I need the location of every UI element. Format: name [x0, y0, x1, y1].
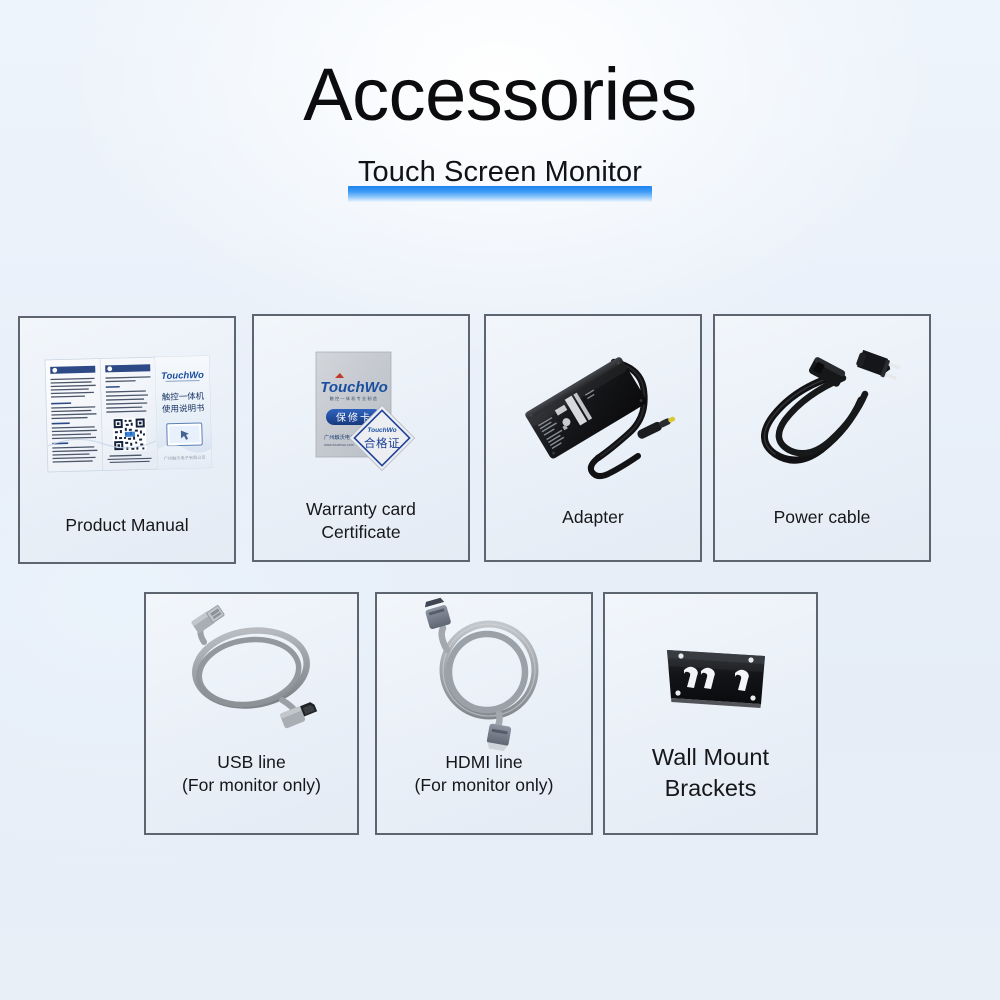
card-label-sub: Certificate	[258, 521, 464, 544]
card-label-sub: (For monitor only)	[150, 774, 353, 797]
card-label: Product Manual	[24, 514, 230, 537]
page-title: Accessories	[0, 0, 1000, 132]
card-label: Wall Mount Brackets	[609, 742, 812, 803]
accessory-card-product-manual[interactable]: TouchWo 触控一体机 使用说明书 广州触沃电子有限公司	[18, 316, 236, 564]
accessory-card-warranty-certificate[interactable]: TouchWo 触控一体机专业制造 保修卡 广州触沃电子有限 www.touch…	[252, 314, 470, 562]
accessory-card-wall-mount-brackets[interactable]: Wall Mount Brackets	[603, 592, 818, 835]
warranty-card-icon: TouchWo 触控一体机专业制造 保修卡 广州触沃电子有限 www.touch…	[254, 316, 470, 506]
svg-text:触控一体机: 触控一体机	[162, 391, 205, 403]
accessory-card-power-cable[interactable]: Power cable	[713, 314, 931, 562]
card-label: Power cable	[719, 506, 925, 529]
card-label-main: Adapter	[562, 507, 624, 527]
card-label: Adapter	[490, 506, 696, 529]
svg-text:使用说明书: 使用说明书	[162, 403, 205, 415]
page-subtitle: Touch Screen Monitor	[354, 156, 646, 189]
wall-bracket-icon	[605, 594, 818, 744]
svg-text:触控一体机专业制造: 触控一体机专业制造	[330, 395, 379, 401]
accessory-card-hdmi-line[interactable]: HDMI line (For monitor only)	[375, 592, 593, 835]
accessory-card-adapter[interactable]: Adapter	[484, 314, 702, 562]
card-label-main: Warranty card	[306, 499, 416, 519]
card-label-sub: Brackets	[609, 773, 812, 804]
power-cord-icon	[715, 316, 931, 506]
usb-cable-icon	[146, 594, 359, 754]
power-adapter-icon	[486, 316, 702, 506]
card-label-sub: (For monitor only)	[381, 774, 587, 797]
card-label-main: Product Manual	[65, 515, 188, 535]
card-label: Warranty card Certificate	[258, 498, 464, 544]
trifold-brochure-icon: TouchWo 触控一体机 使用说明书 广州触沃电子有限公司	[20, 318, 236, 518]
hdmi-cable-icon	[377, 594, 593, 754]
card-label-main: HDMI line	[445, 752, 522, 772]
accessory-card-usb-line[interactable]: USB line (For monitor only)	[144, 592, 359, 835]
svg-text:合格证: 合格证	[364, 436, 400, 450]
card-label: USB line (For monitor only)	[150, 751, 353, 797]
subtitle-group: Touch Screen Monitor	[354, 156, 646, 189]
card-label-main: Wall Mount	[652, 744, 769, 770]
svg-text:TouchWo: TouchWo	[367, 427, 396, 434]
svg-text:www.touchwo.com: www.touchwo.com	[324, 443, 354, 447]
card-label: HDMI line (For monitor only)	[381, 751, 587, 797]
page-header: Accessories Touch Screen Monitor	[0, 0, 1000, 189]
card-label-main: Power cable	[774, 507, 871, 527]
card-label-main: USB line	[217, 752, 286, 772]
accessories-page: Accessories Touch Screen Monitor	[0, 0, 1000, 1000]
svg-text:TouchWo: TouchWo	[320, 379, 388, 396]
